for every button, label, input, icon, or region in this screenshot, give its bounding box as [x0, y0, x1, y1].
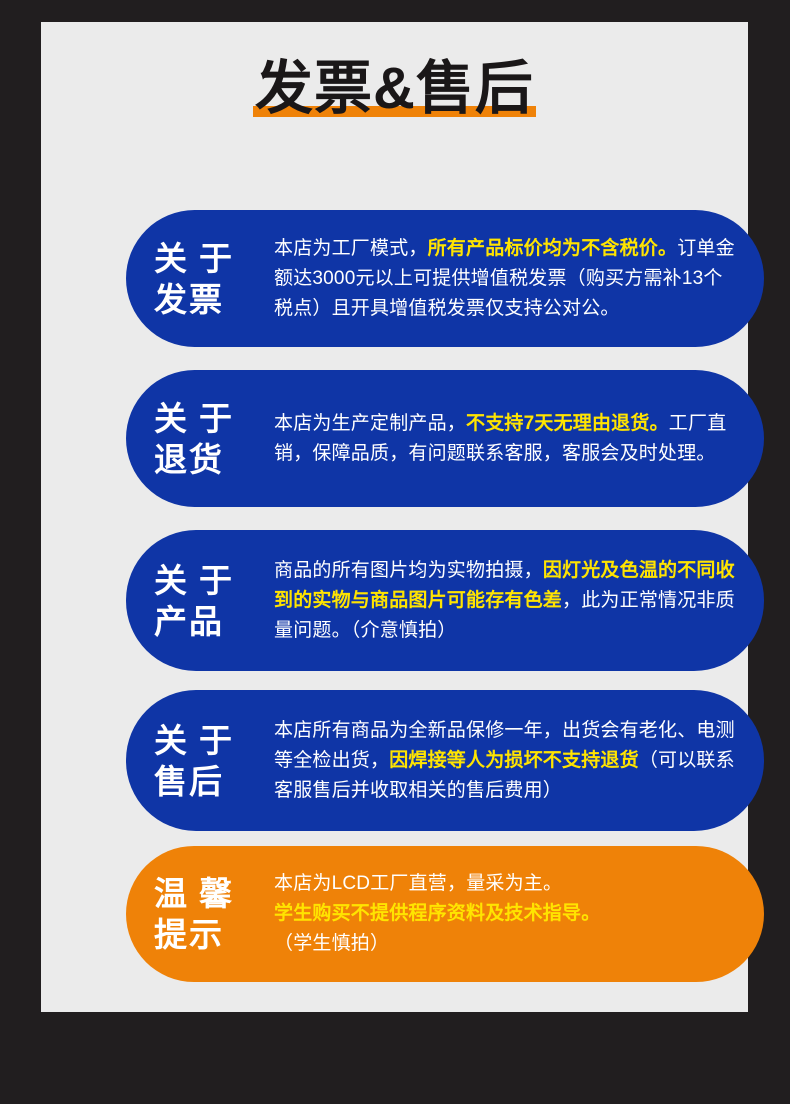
page-title-block: 发票&售后 — [41, 54, 748, 124]
card-tips-body-run-2: （学生慎拍） — [274, 933, 389, 954]
card-service: 关于 售后 本店所有商品为全新品保修一年，出货会有老化、电测等全检出货，因焊接等… — [126, 690, 764, 831]
card-return-label-line2: 退货 — [154, 439, 262, 480]
card-service-label-line1: 关于 — [154, 720, 262, 761]
card-return-body-run-1: 不支持7天无理由退货。 — [466, 413, 669, 434]
card-return-body: 本店为生产定制产品，不支持7天无理由退货。工厂直销，保障品质，有问题联系客服，客… — [262, 409, 738, 469]
card-tips-label-line2: 提示 — [154, 914, 262, 955]
card-tips-label-line1: 温馨 — [154, 873, 262, 914]
card-product-label-line2: 产品 — [154, 601, 262, 642]
card-tips-label: 温馨 提示 — [154, 873, 262, 955]
card-product-label-line1: 关于 — [154, 560, 262, 601]
card-tips-body-run-1: 学生购买不提供程序资料及技术指导。 — [274, 903, 600, 924]
card-service-body-run-1: 因焊接等人为损坏不支持退货 — [389, 750, 639, 771]
card-invoice-body: 本店为工厂模式，所有产品标价均为不含税价。订单金额达3000元以上可提供增值税发… — [262, 234, 738, 324]
card-invoice-body-run-0: 本店为工厂模式， — [274, 238, 428, 259]
card-service-label: 关于 售后 — [154, 720, 262, 802]
page-title: 发票&售后 — [255, 56, 534, 121]
card-return: 关于 退货 本店为生产定制产品，不支持7天无理由退货。工厂直销，保障品质，有问题… — [126, 370, 764, 507]
card-invoice-label: 关于 发票 — [154, 238, 262, 320]
card-product-label: 关于 产品 — [154, 560, 262, 642]
card-tips: 温馨 提示 本店为LCD工厂直营，量采为主。学生购买不提供程序资料及技术指导。（… — [126, 846, 764, 982]
card-invoice-body-run-1: 所有产品标价均为不含税价。 — [428, 238, 678, 259]
card-invoice-label-line2: 发票 — [154, 279, 262, 320]
card-invoice: 关于 发票 本店为工厂模式，所有产品标价均为不含税价。订单金额达3000元以上可… — [126, 210, 764, 347]
card-product-body-run-0: 商品的所有图片均为实物拍摄， — [274, 560, 543, 581]
card-product-body: 商品的所有图片均为实物拍摄，因灯光及色温的不同收到的实物与商品图片可能存有色差，… — [262, 556, 738, 646]
page-title-inner: 发票&售后 — [249, 54, 540, 124]
card-tips-body-run-0: 本店为LCD工厂直营，量采为主。 — [274, 873, 562, 894]
card-service-label-line2: 售后 — [154, 761, 262, 802]
card-return-label: 关于 退货 — [154, 398, 262, 480]
card-tips-body: 本店为LCD工厂直营，量采为主。学生购买不提供程序资料及技术指导。（学生慎拍） — [262, 869, 738, 959]
page-root: 发票&售后 关于 发票 本店为工厂模式，所有产品标价均为不含税价。订单金额达30… — [0, 0, 790, 1104]
card-return-label-line1: 关于 — [154, 398, 262, 439]
card-service-body: 本店所有商品为全新品保修一年，出货会有老化、电测等全检出货，因焊接等人为损坏不支… — [262, 716, 738, 806]
card-return-body-run-0: 本店为生产定制产品， — [274, 413, 466, 434]
card-invoice-label-line1: 关于 — [154, 238, 262, 279]
content-panel: 发票&售后 关于 发票 本店为工厂模式，所有产品标价均为不含税价。订单金额达30… — [41, 22, 748, 1012]
card-product: 关于 产品 商品的所有图片均为实物拍摄，因灯光及色温的不同收到的实物与商品图片可… — [126, 530, 764, 671]
